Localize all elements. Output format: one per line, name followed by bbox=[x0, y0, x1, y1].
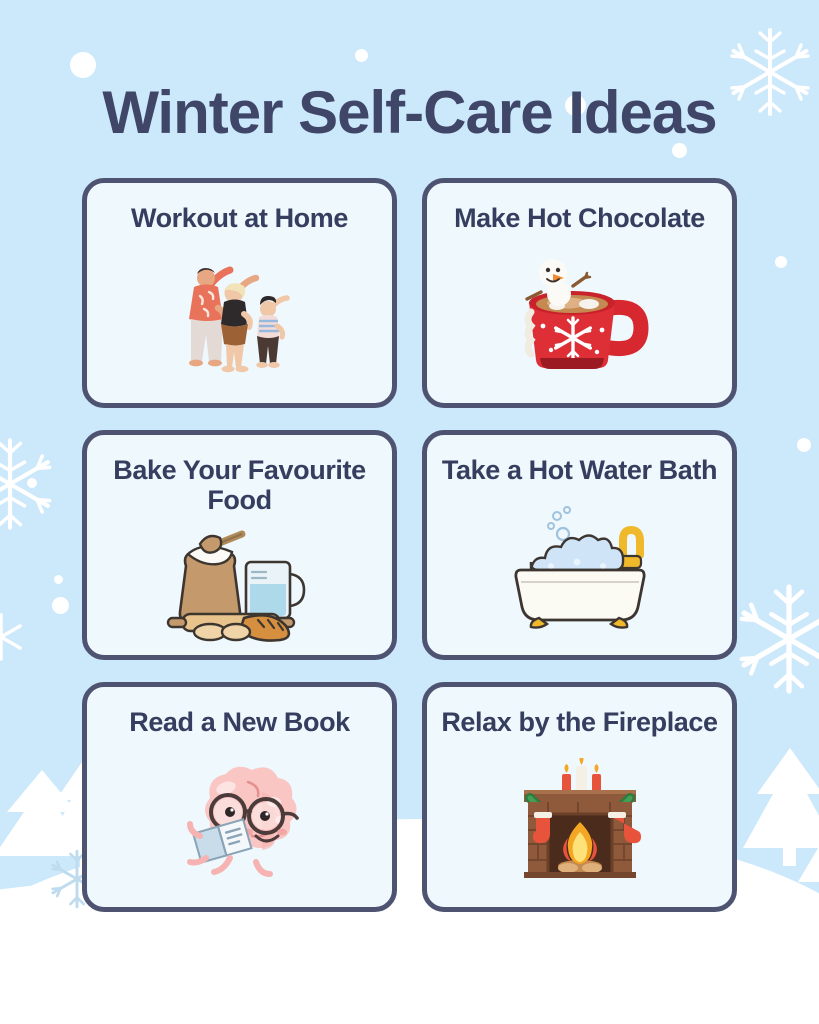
page-title: Winter Self-Care Ideas bbox=[102, 78, 716, 147]
bathtub-icon bbox=[427, 485, 732, 655]
card-title: Relax by the Fireplace bbox=[429, 707, 729, 737]
idea-card-relax-by-the-fireplace[interactable]: Relax by the Fireplace bbox=[422, 682, 737, 912]
idea-card-make-hot-chocolate[interactable]: Make Hot Chocolate bbox=[422, 178, 737, 408]
idea-card-take-a-hot-water-bath[interactable]: Take a Hot Water Bath bbox=[422, 430, 737, 660]
card-title: Workout at Home bbox=[119, 203, 360, 233]
card-title: Bake Your Favourite Food bbox=[87, 455, 392, 515]
card-title: Make Hot Chocolate bbox=[442, 203, 717, 233]
baking-ingredients-icon bbox=[87, 515, 392, 655]
idea-card-workout-at-home[interactable]: Workout at Home bbox=[82, 178, 397, 408]
hot-chocolate-mug-icon bbox=[427, 233, 732, 403]
people-stretching-icon bbox=[87, 233, 392, 403]
idea-card-read-a-new-book[interactable]: Read a New Book bbox=[82, 682, 397, 912]
card-title: Take a Hot Water Bath bbox=[430, 455, 729, 485]
idea-card-bake-your-favourite-food[interactable]: Bake Your Favourite Food bbox=[82, 430, 397, 660]
infographic-page: Winter Self-Care Ideas Workout at Home bbox=[0, 0, 819, 1024]
fireplace-icon bbox=[427, 737, 732, 907]
brain-reading-book-icon bbox=[87, 737, 392, 907]
card-title: Read a New Book bbox=[117, 707, 362, 737]
idea-card-grid: Workout at Home bbox=[82, 178, 737, 912]
